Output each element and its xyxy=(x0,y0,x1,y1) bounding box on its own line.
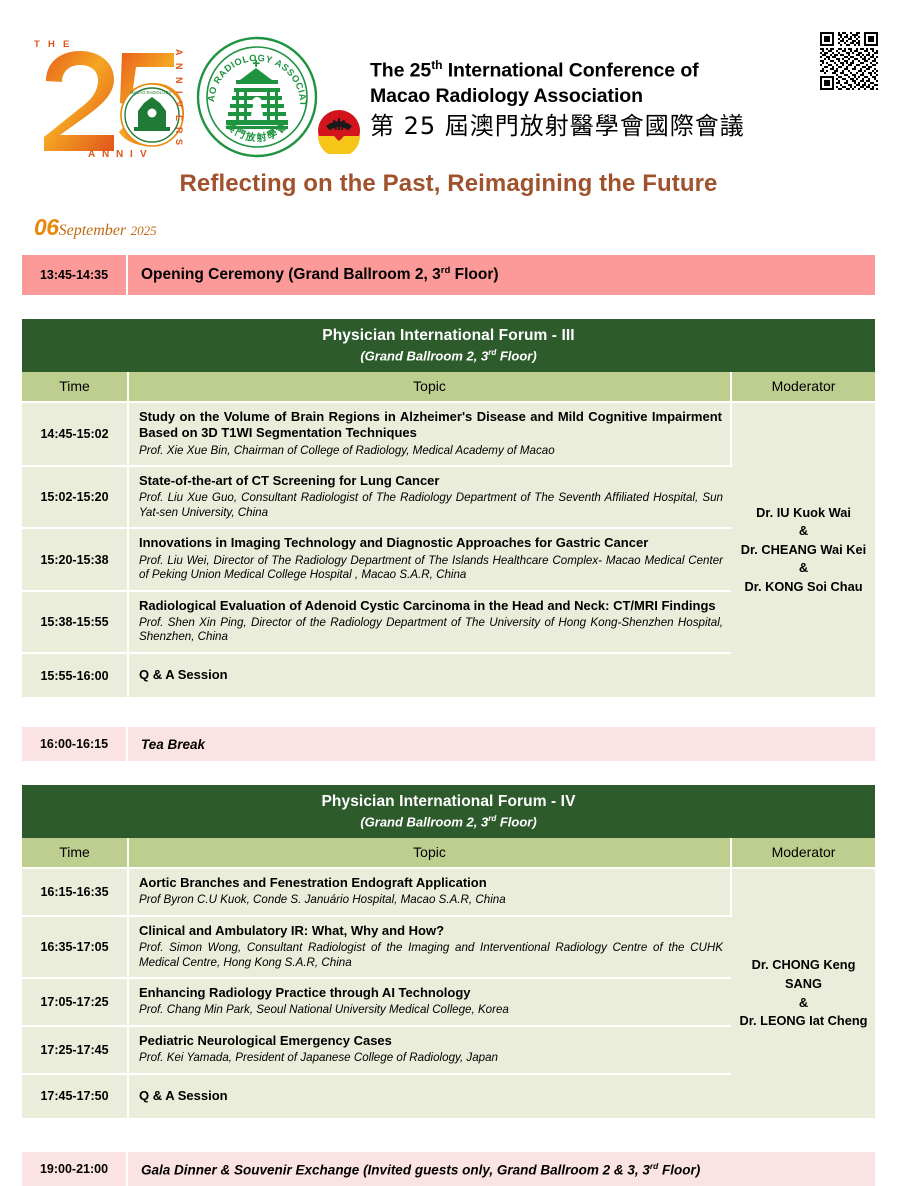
svg-text:MACAO RADIOLOGY: MACAO RADIOLOGY xyxy=(130,90,172,95)
session-topic: Innovations in Imaging Technology and Di… xyxy=(128,528,731,590)
opening-ceremony-bar: 13:45-14:35 Opening Ceremony (Grand Ball… xyxy=(22,255,875,295)
tea-break-bar: 16:00-16:15 Tea Break xyxy=(22,727,875,761)
opening-title-ordinal: rd xyxy=(441,265,451,276)
session-time: 15:02-15:20 xyxy=(22,466,128,528)
macao-radiology-association-seal: MACAO RADIOLOGY ASSOCIATION 澳門放射學會 xyxy=(196,36,318,158)
session-topic: Aortic Branches and Fenestration Endogra… xyxy=(128,868,731,916)
column-header-topic: Topic xyxy=(128,372,731,402)
forum-4-header: Physician International Forum - IV (Gran… xyxy=(22,785,875,838)
macao-emblem-icon xyxy=(316,108,362,154)
title-ordinal-suffix: th xyxy=(431,58,442,72)
session-topic: Radiological Evaluation of Adenoid Cysti… xyxy=(128,591,731,653)
forum-4-venue-before: (Grand Ballroom 2, 3 xyxy=(360,814,488,829)
session-title: Enhancing Radiology Practice through AI … xyxy=(139,985,723,1001)
column-header-moderator: Moderator xyxy=(731,372,875,402)
column-header-time: Time xyxy=(22,838,128,868)
event-date-day: 06 xyxy=(34,214,59,240)
conference-title-block: The 25th International Conference of Mac… xyxy=(370,58,820,141)
gala-title-after: Floor) xyxy=(658,1162,700,1177)
session-time: 17:25-17:45 xyxy=(22,1026,128,1074)
gala-dinner-title: Gala Dinner & Souvenir Exchange (Invited… xyxy=(128,1152,875,1186)
session-title: Aortic Branches and Fenestration Endogra… xyxy=(139,875,722,891)
forum-4-section: Physician International Forum - IV (Gran… xyxy=(22,785,875,1118)
gala-title-ordinal: rd xyxy=(650,1161,658,1171)
conference-schedule-page: THE MACAO RADIOLOGY A N N I xyxy=(0,0,897,1116)
title-line-2: Macao Radiology Association xyxy=(370,84,820,110)
session-title: Clinical and Ambulatory IR: What, Why an… xyxy=(139,923,723,939)
session-time: 16:35-17:05 xyxy=(22,916,128,978)
column-header-topic: Topic xyxy=(128,838,731,868)
session-topic: State-of-the-art of CT Screening for Lun… xyxy=(128,466,731,528)
forum-3-venue-before: (Grand Ballroom 2, 3 xyxy=(360,348,488,363)
session-time: 15:38-15:55 xyxy=(22,591,128,653)
session-title: Radiological Evaluation of Adenoid Cysti… xyxy=(139,598,723,614)
qr-code-icon[interactable] xyxy=(820,32,878,90)
svg-text:A: A xyxy=(174,49,184,56)
session-speaker: Prof. Simon Wong, Consultant Radiologist… xyxy=(139,941,723,970)
svg-text:E: E xyxy=(63,39,69,50)
session-title: Innovations in Imaging Technology and Di… xyxy=(139,535,723,551)
session-speaker: Prof Byron C.U Kuok, Conde S. Januário H… xyxy=(139,893,722,908)
tea-break-time: 16:00-16:15 xyxy=(22,727,128,761)
event-date-month: September xyxy=(59,222,127,239)
session-speaker: Prof. Kei Yamada, President of Japanese … xyxy=(139,1051,723,1066)
forum-3-venue-after: Floor) xyxy=(496,348,536,363)
table-row: 16:15-16:35 Aortic Branches and Fenestra… xyxy=(22,868,875,916)
session-speaker: Prof. Liu Wei, Director of The Radiology… xyxy=(139,554,723,583)
session-topic: Pediatric Neurological Emergency Cases P… xyxy=(128,1026,731,1074)
session-title: Q & A Session xyxy=(139,1088,723,1104)
gala-dinner-time: 19:00-21:00 xyxy=(22,1152,128,1186)
svg-text:A: A xyxy=(88,149,95,160)
session-time: 16:15-16:35 xyxy=(22,868,128,916)
svg-text:H: H xyxy=(48,39,55,50)
session-title: Q & A Session xyxy=(139,667,723,683)
svg-text:R: R xyxy=(174,127,184,134)
forum-4-moderators: Dr. CHONG Keng SANG & Dr. LEONG Iat Chen… xyxy=(731,868,875,1117)
session-title: Study on the Volume of Brain Regions in … xyxy=(139,409,722,441)
forum-4-table: Time Topic Moderator 16:15-16:35 Aortic … xyxy=(22,838,875,1117)
column-header-time: Time xyxy=(22,372,128,402)
session-speaker: Prof. Liu Xue Guo, Consultant Radiologis… xyxy=(139,491,723,520)
session-topic: Q & A Session xyxy=(128,653,731,697)
forum-3-table: Time Topic Moderator 14:45-15:02 Study o… xyxy=(22,372,875,697)
table-row: 14:45-15:02 Study on the Volume of Brain… xyxy=(22,402,875,466)
title-line-1: The 25th International Conference of xyxy=(370,58,820,84)
anniversary-25-logo: THE MACAO RADIOLOGY A N N I xyxy=(26,33,186,161)
session-time: 17:05-17:25 xyxy=(22,978,128,1026)
opening-title-before: Opening Ceremony (Grand Ballroom 2, 3 xyxy=(141,267,441,284)
session-time: 15:20-15:38 xyxy=(22,528,128,590)
title-line1-rest: International Conference of xyxy=(442,60,698,82)
column-header-moderator: Moderator xyxy=(731,838,875,868)
opening-title-after: Floor) xyxy=(450,267,498,284)
gala-title-before: Gala Dinner & Souvenir Exchange (Invited… xyxy=(141,1162,650,1177)
session-speaker: Prof. Chang Min Park, Seoul National Uni… xyxy=(139,1003,723,1018)
forum-3-venue: (Grand Ballroom 2, 3rd Floor) xyxy=(22,348,875,363)
svg-text:N: N xyxy=(102,149,109,160)
session-speaker: Prof. Xie Xue Bin, Chairman of College o… xyxy=(139,444,722,459)
session-topic: Study on the Volume of Brain Regions in … xyxy=(128,402,731,466)
forum-4-name: Physician International Forum - IV xyxy=(22,793,875,811)
svg-text:N: N xyxy=(116,149,123,160)
forum-3-section: Physician International Forum - III (Gra… xyxy=(22,319,875,697)
forum-4-column-headers: Time Topic Moderator xyxy=(22,838,875,868)
session-time: 14:45-15:02 xyxy=(22,402,128,466)
conference-tagline: Reflecting on the Past, Reimagining the … xyxy=(0,170,897,198)
forum-3-column-headers: Time Topic Moderator xyxy=(22,372,875,402)
session-time: 17:45-17:50 xyxy=(22,1074,128,1118)
svg-text:V: V xyxy=(174,101,184,107)
opening-ceremony-title: Opening Ceremony (Grand Ballroom 2, 3rd … xyxy=(128,255,875,295)
svg-text:T: T xyxy=(34,39,40,50)
svg-text:I: I xyxy=(130,149,133,160)
svg-text:S: S xyxy=(174,139,184,145)
opening-ceremony-time: 13:45-14:35 xyxy=(22,255,128,295)
event-date: 06September 2025 xyxy=(34,214,897,241)
svg-text:N: N xyxy=(174,77,184,84)
svg-text:E: E xyxy=(174,115,184,121)
page-header: THE MACAO RADIOLOGY A N N I xyxy=(0,0,897,160)
svg-text:I: I xyxy=(174,91,184,94)
title-line1-text: The 25 xyxy=(370,60,431,82)
svg-text:N: N xyxy=(174,63,184,70)
session-title: State-of-the-art of CT Screening for Lun… xyxy=(139,473,723,489)
event-date-year: 2025 xyxy=(131,223,157,238)
session-time: 15:55-16:00 xyxy=(22,653,128,697)
tea-break-title: Tea Break xyxy=(128,727,875,761)
gala-dinner-bar: 19:00-21:00 Gala Dinner & Souvenir Excha… xyxy=(22,1152,875,1186)
session-title: Pediatric Neurological Emergency Cases xyxy=(139,1033,723,1049)
session-topic: Enhancing Radiology Practice through AI … xyxy=(128,978,731,1026)
session-topic: Clinical and Ambulatory IR: What, Why an… xyxy=(128,916,731,978)
forum-3-moderators: Dr. IU Kuok Wai & Dr. CHEANG Wai Kei & D… xyxy=(731,402,875,697)
forum-3-name: Physician International Forum - III xyxy=(22,327,875,345)
forum-4-venue-after: Floor) xyxy=(496,814,536,829)
forum-4-venue: (Grand Ballroom 2, 3rd Floor) xyxy=(22,814,875,829)
svg-text:V: V xyxy=(140,149,147,160)
forum-3-header: Physician International Forum - III (Gra… xyxy=(22,319,875,372)
session-topic: Q & A Session xyxy=(128,1074,731,1118)
session-speaker: Prof. Shen Xin Ping, Director of the Rad… xyxy=(139,616,723,645)
title-chinese: 第 25 屆澳門放射醫學會國際會議 xyxy=(370,112,820,141)
